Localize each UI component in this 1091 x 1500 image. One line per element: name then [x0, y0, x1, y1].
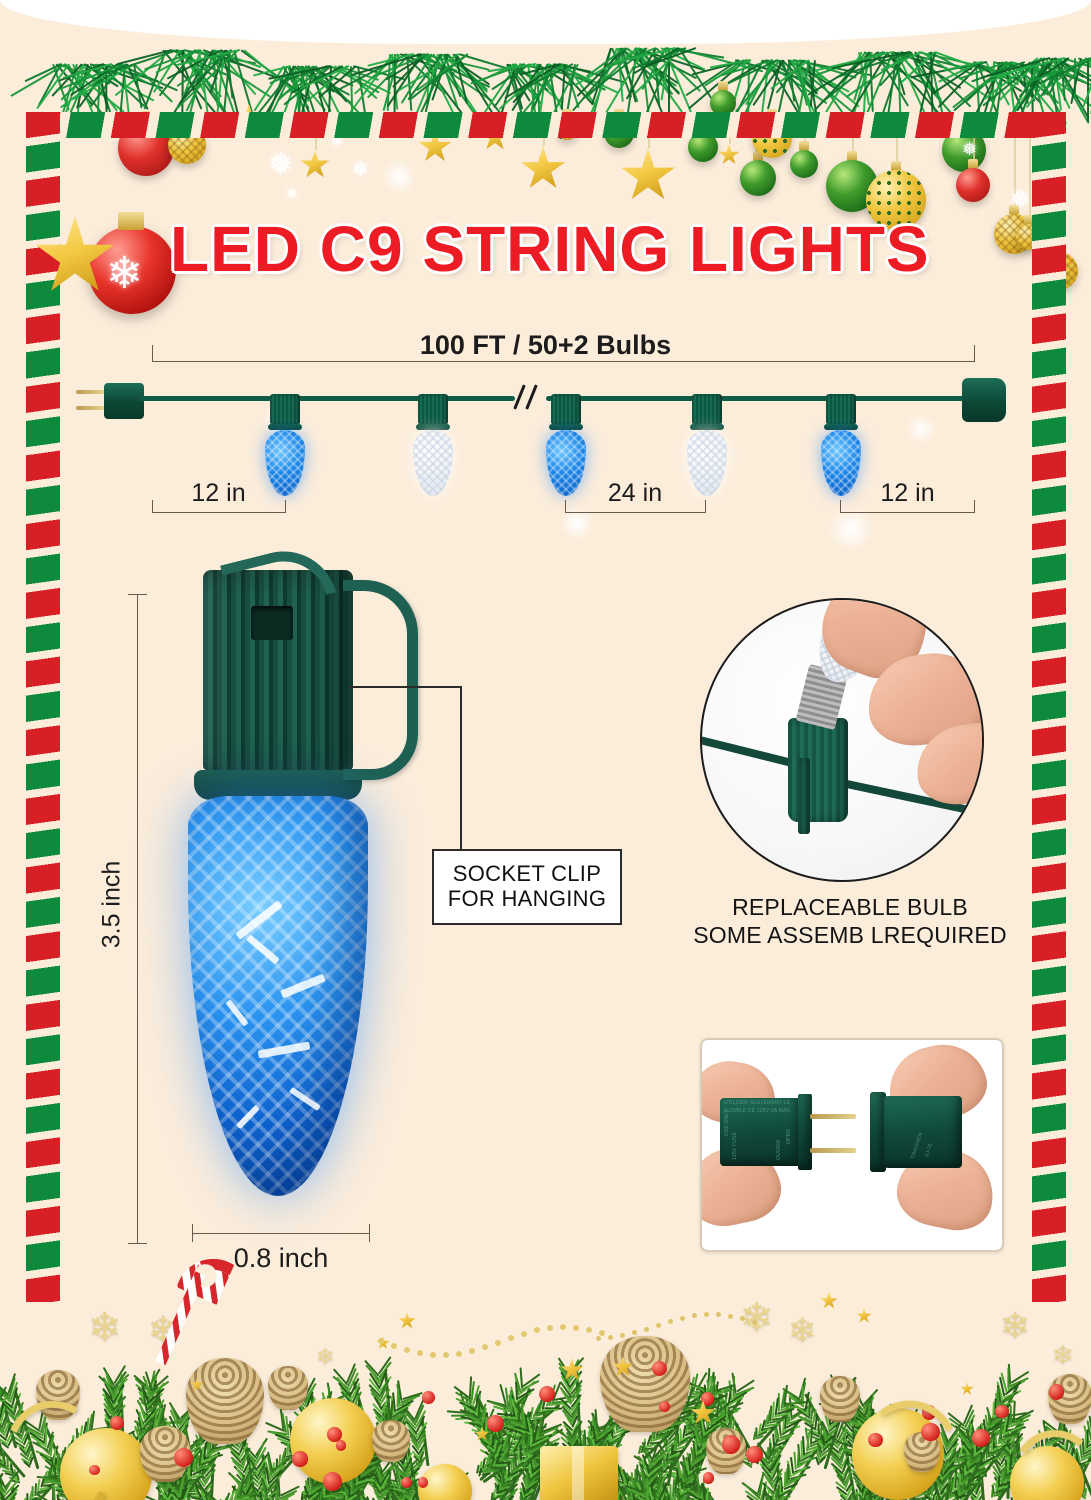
caption-line-2: SOME ASSEMB LREQUIRED: [660, 921, 1040, 949]
spacing-line-3: [840, 512, 975, 513]
red-berry: [1049, 1384, 1064, 1399]
snowflake-sparkle: ❅: [268, 150, 293, 180]
gold-bead: [632, 1330, 637, 1335]
plug-prong-top: [76, 390, 104, 394]
male-plug: [104, 383, 144, 419]
photo-prong-bottom: [810, 1148, 856, 1153]
bottom-garland: ❄❄❄❄❄❄❄: [0, 1250, 1091, 1500]
gold-star: [300, 150, 330, 180]
gold-snowflake: ❄: [88, 1308, 122, 1348]
gold-bead: [668, 1319, 673, 1324]
gold-bead: [430, 1352, 436, 1358]
gold-bead: [680, 1316, 685, 1321]
red-berry: [703, 1472, 714, 1483]
gold-snowflake: ❄: [1052, 1342, 1074, 1368]
gold-bead: [443, 1352, 449, 1358]
garland-frond: [379, 1470, 397, 1500]
gold-bead: [378, 1338, 384, 1344]
width-tick-left: [192, 1224, 193, 1242]
gold-bead: [644, 1327, 649, 1332]
spacing-label-3: 12 in: [840, 479, 975, 508]
border-top: [26, 112, 1066, 138]
hero-bulb-glass: [188, 796, 368, 1196]
male-plug-collar: [798, 1094, 812, 1170]
socket-clip-hook: [343, 580, 418, 780]
gold-bead: [656, 1323, 661, 1328]
photo-prong-top: [810, 1114, 856, 1119]
bulb-cap: [826, 394, 856, 424]
pinecone: [600, 1336, 690, 1432]
spacing-label-2: 24 in: [565, 479, 705, 508]
hanging-ornament: [740, 160, 776, 196]
height-dim-line: [137, 594, 138, 1244]
callout-leader-horizontal: [348, 686, 462, 688]
bulb-cap: [551, 394, 581, 424]
spacing-tick-1b: [285, 500, 286, 513]
red-berry: [995, 1405, 1008, 1418]
plug-prong-bottom: [76, 406, 104, 410]
height-tick-top: [128, 594, 147, 595]
gold-bead: [704, 1312, 709, 1317]
gold-bead: [391, 1343, 397, 1349]
spacing-line-2: [565, 512, 705, 513]
gold-snowflake: ❄: [740, 1298, 774, 1338]
title-ornament-cap: [118, 212, 144, 230]
red-berry: [292, 1451, 307, 1466]
gold-star: [620, 148, 676, 204]
gold-bead: [547, 1325, 553, 1331]
caption-line-1: REPLACEABLE BULB: [660, 893, 1040, 921]
red-berry: [401, 1477, 412, 1488]
plug-label-en-1: USE ONLY: [724, 1109, 730, 1136]
gold-bead: [596, 1336, 601, 1341]
total-dim-line: [152, 361, 975, 362]
gold-bead: [716, 1312, 721, 1317]
spacing-label-1: 12 in: [152, 479, 285, 508]
snow-band: [0, 0, 1091, 44]
red-berry: [487, 1415, 504, 1432]
gold-star: [718, 144, 740, 166]
bulb-cap: [270, 394, 300, 424]
infographic-page: ❅❅❅❅❅❅ ❄ LED C9 STRING LIGHTS 100 FT / 5…: [0, 0, 1091, 1500]
spacing-tick-1a: [152, 500, 153, 513]
total-length-label: 100 FT / 50+2 Bulbs: [0, 330, 1091, 361]
hanging-ornament: [790, 150, 818, 178]
plug-label-fr-2: FUSIBLE DE 125V 5A MAX.: [724, 1108, 792, 1114]
gold-bead: [608, 1335, 613, 1340]
callout-leader-vertical: [460, 686, 462, 851]
gold-star: [856, 1308, 872, 1324]
gift-ribbon-vertical: [572, 1446, 584, 1500]
string-bulb-2: [412, 394, 454, 496]
spacing-tick-2b: [705, 500, 706, 513]
gold-bead: [482, 1344, 488, 1350]
total-dim-tick-right: [974, 345, 975, 361]
plug-label-fr-1: UTILISER SEULEMENT LE: [724, 1100, 790, 1106]
width-dim-line: [192, 1233, 370, 1234]
gold-bead: [599, 1330, 605, 1336]
snowflake-sparkle: ❅: [352, 160, 369, 180]
string-wire-right: [546, 396, 964, 401]
garland-frond: [697, 1481, 739, 1500]
glow-sparkle: [382, 160, 416, 194]
red-berry: [110, 1416, 124, 1430]
snowflake-sparkle: ❅: [1010, 188, 1030, 212]
socket-clip-callout: SOCKET CLIP FOR HANGING: [432, 849, 622, 925]
photo-socket: [788, 718, 848, 822]
red-berry: [174, 1448, 192, 1466]
gold-bead: [586, 1327, 592, 1333]
hero-socket-body: [203, 570, 353, 770]
gold-bead: [404, 1347, 410, 1353]
gold-bead: [508, 1335, 514, 1341]
pinecone: [372, 1420, 410, 1462]
page-title: LED C9 STRING LIGHTS: [170, 212, 950, 286]
gold-star: [960, 1382, 974, 1396]
spacing-line-1: [152, 512, 285, 513]
gold-star: [820, 1292, 838, 1310]
gold-bead: [495, 1340, 501, 1346]
total-dim-tick-left: [152, 345, 153, 361]
bulb-cap: [692, 394, 722, 424]
snowflake-sparkle: ❅: [962, 140, 977, 158]
gold-star: [398, 1312, 416, 1330]
bulb-cap: [418, 394, 448, 424]
gold-bead: [456, 1351, 462, 1357]
plug-label-open: OPEN: [786, 1129, 792, 1144]
gold-bead: [560, 1324, 566, 1330]
red-berry: [659, 1401, 670, 1412]
gold-snowflake: ❄: [316, 1346, 334, 1368]
string-wire-left: [140, 396, 515, 401]
hanging-ornament: [956, 168, 990, 202]
plug-connector-photo: UTILISER SEULEMENT LE FUSIBLE DE 125V 5A…: [700, 1038, 1004, 1252]
photo-socket-clip: [798, 758, 810, 834]
replaceable-bulb-photo: [700, 598, 984, 882]
red-berry: [327, 1427, 342, 1442]
width-tick-right: [369, 1224, 370, 1242]
callout-line-2: FOR HANGING: [448, 887, 607, 912]
gold-bead: [534, 1327, 540, 1333]
pinecone: [268, 1366, 308, 1410]
female-connector: [962, 378, 1006, 422]
plug-label-en-2: 125V FUSE: [732, 1132, 738, 1160]
glow-sparkle: [906, 414, 936, 444]
gold-bead: [573, 1325, 579, 1331]
spacing-tick-3b: [974, 500, 975, 513]
garland-frond: [415, 1417, 435, 1467]
title-ornament-snowflake: ❄: [106, 252, 143, 296]
gold-snowflake: ❄: [1000, 1308, 1030, 1344]
break-mark-a: [513, 384, 526, 409]
gold-bead: [692, 1313, 697, 1318]
snowflake-sparkle: ❅: [286, 186, 298, 200]
height-tick-bottom: [128, 1243, 147, 1244]
gold-snowflake: ❄: [788, 1314, 817, 1348]
red-berry: [323, 1472, 342, 1491]
height-label: 3.5 inch: [98, 845, 127, 965]
gold-bead: [417, 1350, 423, 1356]
red-berry: [418, 1477, 429, 1488]
replaceable-bulb-caption: REPLACEABLE BULB SOME ASSEMB LREQUIRED: [660, 893, 1040, 949]
border-left: [26, 112, 60, 1302]
pinecone: [820, 1376, 860, 1422]
red-berry: [722, 1435, 741, 1454]
bulb-glass-white: [413, 430, 453, 496]
red-berry: [652, 1361, 667, 1376]
gold-bead: [469, 1348, 475, 1354]
border-right: [1032, 112, 1066, 1302]
plug-label-ouvrir: OUVRIR: [776, 1139, 782, 1160]
spacing-tick-2a: [565, 500, 566, 513]
gold-bead: [752, 1320, 757, 1325]
gold-bead: [728, 1314, 733, 1319]
female-plug-body: [884, 1096, 962, 1168]
break-mark-b: [525, 384, 538, 409]
red-berry: [422, 1391, 435, 1404]
gold-star: [520, 146, 566, 192]
spacing-tick-3a: [840, 500, 841, 513]
hero-bulb: [178, 570, 378, 1196]
hero-socket-notch: [251, 606, 293, 640]
callout-line-1: SOCKET CLIP: [453, 862, 601, 887]
gold-bead: [620, 1333, 625, 1338]
gold-bead: [521, 1331, 527, 1337]
